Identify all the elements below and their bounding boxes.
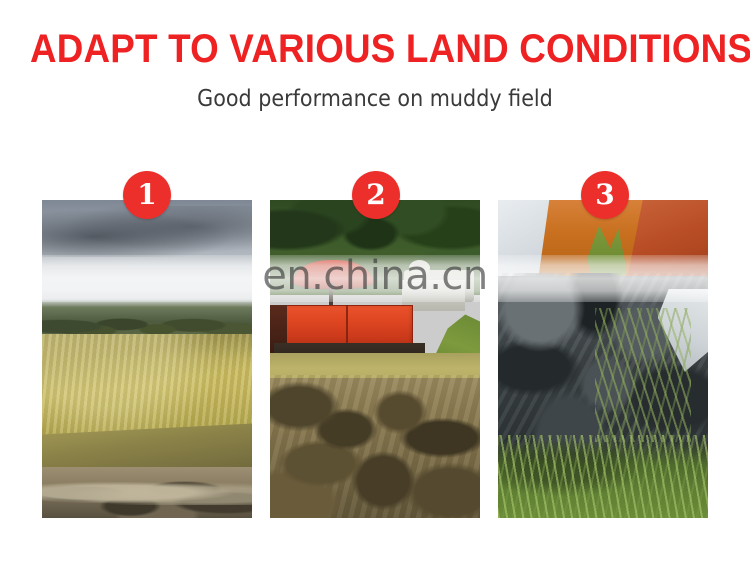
grass-blades-middle xyxy=(595,308,692,442)
page-title: ADAPT TO VARIOUS LAND CONDITIONS xyxy=(30,0,720,71)
photo-card-row xyxy=(42,200,708,518)
grass-bottom-texture xyxy=(498,435,708,518)
tilled-mud-texture xyxy=(270,375,480,518)
step-badge-2: 2 xyxy=(352,171,400,219)
promo-banner: ADAPT TO VARIOUS LAND CONDITIONS Good pe… xyxy=(0,0,750,573)
photo-harvester-muddy-field xyxy=(270,200,480,518)
photo-track-in-deep-mud xyxy=(498,200,708,518)
photo-paddy-field xyxy=(42,200,252,518)
page-subtitle: Good performance on muddy field xyxy=(38,71,713,113)
step-badge-3: 3 xyxy=(581,171,629,219)
treeline-texture xyxy=(42,295,252,336)
step-badge-1: 1 xyxy=(123,171,171,219)
photo-card-1[interactable] xyxy=(42,200,252,518)
muddy-water-layer xyxy=(42,480,252,505)
header: ADAPT TO VARIOUS LAND CONDITIONS Good pe… xyxy=(0,0,750,113)
concrete-post-cap xyxy=(409,260,430,276)
photo-card-3[interactable] xyxy=(498,200,708,518)
photo-card-2[interactable] xyxy=(270,200,480,518)
